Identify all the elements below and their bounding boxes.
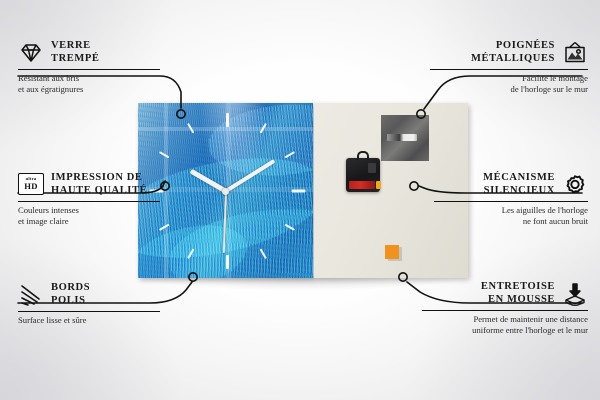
hanging-frame-icon xyxy=(562,41,588,65)
callout-title: BORDSPOLIS xyxy=(51,282,90,308)
callout-divider xyxy=(430,69,588,71)
callout-description: Les aiguilles de l'horlogene font aucun … xyxy=(420,205,588,227)
clock-minute-hand xyxy=(224,159,274,193)
product-image xyxy=(138,103,468,278)
press-down-foam-icon xyxy=(562,282,588,306)
clock-tick xyxy=(259,123,266,134)
callout-title: VERRETREMPÉ xyxy=(51,40,100,66)
metal-hanger-bracket xyxy=(381,115,429,161)
clock-tick xyxy=(158,151,169,158)
clock-tick xyxy=(226,255,229,269)
clock-center-cap xyxy=(222,188,229,195)
callout-header: VERRETREMPÉ xyxy=(18,40,178,66)
callout-divider xyxy=(18,69,160,71)
callout-bords-polis: BORDSPOLIS Surface lisse et sûre xyxy=(18,282,178,326)
infographic-canvas: VERRETREMPÉ Résistant aux briset aux égr… xyxy=(0,0,600,400)
mechanism-detail xyxy=(368,163,376,173)
clock-tick xyxy=(187,249,194,260)
callout-description: Résistant aux briset aux égratignures xyxy=(18,73,178,95)
foam-spacer xyxy=(385,245,399,259)
callout-title: MÉCANISMESILENCIEUX xyxy=(483,172,555,198)
polished-edges-icon xyxy=(18,283,44,307)
callout-header: BORDSPOLIS xyxy=(18,282,178,308)
callout-header: MÉCANISMESILENCIEUX xyxy=(420,172,588,198)
callout-impression-haute-qualite: ultra HD IMPRESSION DEHAUTE QUALITÉ Coul… xyxy=(18,172,178,228)
clock-tick xyxy=(187,123,194,134)
clock-second-hand xyxy=(223,191,227,253)
callout-entretoise-en-mousse: ENTRETOISEEN MOUSSE Permet de maintenir … xyxy=(408,281,588,337)
callout-poignees-metalliques: POIGNÉESMÉTALLIQUES Facilite le montaged… xyxy=(416,40,588,96)
clock-tick xyxy=(259,249,266,260)
callout-title: IMPRESSION DEHAUTE QUALITÉ xyxy=(51,172,147,198)
gear-icon xyxy=(562,173,588,197)
diamond-icon xyxy=(18,41,44,65)
callout-description: Couleurs intenseset image claire xyxy=(18,205,178,227)
callout-description: Surface lisse et sûre xyxy=(18,315,178,326)
callout-verre-trempe: VERRETREMPÉ Résistant aux briset aux égr… xyxy=(18,40,178,96)
callout-divider xyxy=(18,201,160,203)
battery-terminal xyxy=(376,181,381,189)
callout-header: ultra HD IMPRESSION DEHAUTE QUALITÉ xyxy=(18,172,178,198)
callout-title: ENTRETOISEEN MOUSSE xyxy=(481,281,555,307)
callout-title: POIGNÉESMÉTALLIQUES xyxy=(471,40,555,66)
callout-header: POIGNÉESMÉTALLIQUES xyxy=(416,40,588,66)
callout-header: ENTRETOISEEN MOUSSE xyxy=(408,281,588,307)
callout-description: Permet de maintenir une distanceuniforme… xyxy=(408,314,588,336)
callout-mecanisme-silencieux: MÉCANISMESILENCIEUX Les aiguilles de l'h… xyxy=(420,172,588,228)
clock-tick xyxy=(226,113,229,127)
battery xyxy=(349,181,375,189)
callout-description: Facilite le montagede l'horloge sur le m… xyxy=(416,73,588,95)
ultra-hd-icon: ultra HD xyxy=(18,173,44,197)
ultra-hd-icon-main-label: HD xyxy=(24,182,38,191)
callout-divider xyxy=(434,201,588,203)
callout-divider xyxy=(18,311,160,313)
clock-tick xyxy=(291,190,305,193)
clock-mechanism-box xyxy=(346,158,380,192)
callout-divider xyxy=(422,310,588,312)
mechanism-shaft xyxy=(357,151,369,160)
hanger-slot xyxy=(387,134,417,141)
clock-tick xyxy=(284,151,295,158)
clock-tick xyxy=(284,224,295,231)
